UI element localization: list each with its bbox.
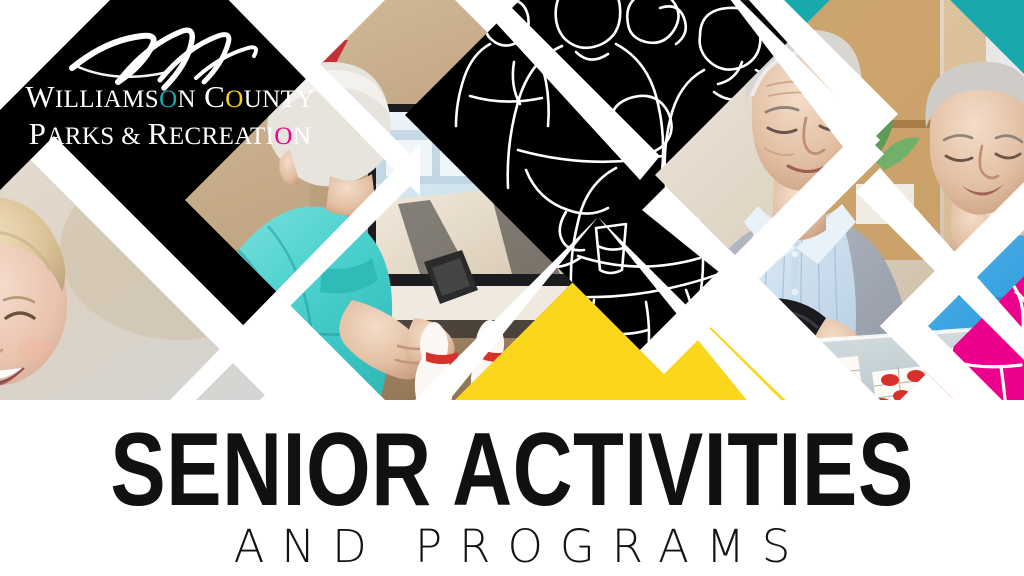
logo-line2-part-c: R — [148, 116, 169, 151]
logo-line2-accent-o: O — [274, 123, 292, 150]
logo-line1-part-b: ILLIAMS — [55, 86, 159, 113]
logo-line2-part-b: ARKS & — [46, 123, 147, 150]
logo-line1-accent-o2: O — [225, 86, 243, 113]
logo-line1-part-e: UNTY — [244, 86, 315, 113]
logo-line1-part-a: W — [25, 79, 55, 114]
logo-line2-part-d: ECREATI — [169, 123, 275, 150]
poster-root: 1227 4155 1933 4762 — [0, 0, 1024, 576]
logo-line1-accent-o: O — [159, 86, 177, 113]
logo-line1-part-d: C — [204, 79, 225, 114]
logo-line2-part-e: N — [293, 123, 311, 150]
page-subtitle: AND PROGRAMS — [0, 523, 1024, 570]
title-block: SENIOR ACTIVITIES AND PROGRAMS — [0, 421, 1024, 570]
logo-line2-part-a: P — [29, 116, 47, 151]
collage-banner: 1227 4155 1933 4762 — [0, 0, 1024, 420]
logo-line1-part-c: N — [178, 86, 196, 113]
page-title: SENIOR ACTIVITIES — [102, 421, 921, 521]
